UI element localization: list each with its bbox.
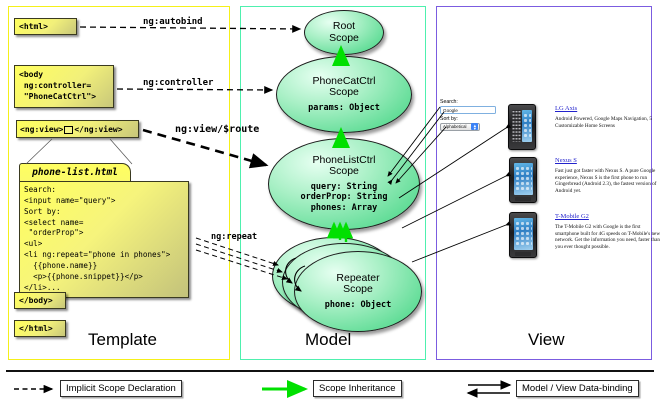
note-title: phone-list.html [20, 164, 130, 181]
scope-phonelistctrl-title-line2: Scope [312, 166, 375, 178]
phone-app-grid [515, 221, 532, 247]
diagram-canvas: <html> <body ng:controller= "PhoneCatCtr… [0, 0, 660, 405]
phone-snippet-3: The T-Mobile G2 with Google is the first… [555, 224, 660, 250]
scope-phonelistctrl-title: PhoneListCtrl Scope [312, 155, 375, 178]
scope-phonecatctrl-title-line2: Scope [312, 87, 375, 99]
phone-image-nexus-s [509, 157, 537, 203]
keyboard-icon [512, 110, 521, 142]
html-close-tag-box: </html> [14, 320, 66, 337]
scope-root-title-line1: Root [329, 21, 359, 33]
view-search-form: Search: Google Sort by: Alphabetical ▲▼ [440, 99, 498, 131]
label-ng-controller: ng:controller [143, 78, 213, 88]
ngview-open-text: <ng:view> [20, 125, 63, 134]
panel-label-model: Model [305, 330, 351, 350]
note-code: Search: <input name="query"> Sort by: <s… [19, 181, 189, 298]
body-open-tag-text: <body ng:controller= "PhoneCatCtrl"> [19, 70, 96, 101]
body-open-tag-box: <body ng:controller= "PhoneCatCtrl"> [14, 65, 114, 108]
view-search-input[interactable]: Google [440, 106, 496, 114]
phone-snippet-1: Android Powered, Google Maps Navigation,… [555, 116, 660, 129]
phone-image-tmobile-g2 [509, 212, 537, 258]
html-open-tag-box: <html> [14, 18, 77, 35]
phone-link-3[interactable]: T-Mobile G2 [555, 213, 589, 220]
label-ng-repeat: ng:repeat [211, 232, 257, 242]
panel-label-template: Template [88, 330, 157, 350]
ngview-placeholder-icon [64, 126, 73, 134]
body-close-tag-box: </body> [14, 292, 66, 309]
phone-snippet-2: Fast just got faster with Nexus S. A pur… [555, 168, 660, 194]
phone-bottom-bar [515, 252, 531, 256]
scope-repeater-title: Repeater Scope [336, 273, 379, 296]
scope-phonecatctrl-title: PhoneCatCtrl Scope [312, 76, 375, 99]
scope-phonelistctrl-props: query: String orderProp: String phones: … [301, 182, 388, 214]
phone-app-grid [515, 166, 532, 192]
scope-phonelistctrl: PhoneListCtrl Scope query: String orderP… [268, 138, 420, 230]
panel-label-view: View [528, 330, 565, 350]
scope-repeater-stack: Repeater Scope phone: Object [272, 235, 422, 332]
scope-phonecatctrl: PhoneCatCtrl Scope params: Object [276, 56, 412, 133]
note-tab: phone-list.html [19, 163, 131, 182]
legend-label-databinding: Model / View Data-binding [516, 380, 639, 397]
view-search-label: Search: [440, 99, 498, 105]
phone-image-lg-axis [508, 104, 536, 150]
scope-repeater-props: phone: Object [325, 300, 392, 311]
scope-root-title-line2: Scope [329, 33, 359, 45]
phone-bottom-bar [515, 197, 531, 201]
html-open-tag-text: <html> [19, 22, 48, 31]
view-sort-value: Alphabetical [441, 124, 471, 129]
scope-repeater: Repeater Scope phone: Object [294, 251, 422, 332]
ngview-tag-box: <ng:view></ng:view> [16, 120, 139, 138]
legend-label-inheritance: Scope Inheritance [313, 380, 402, 397]
scope-root-title: Root Scope [329, 21, 359, 44]
legend-divider [6, 370, 654, 372]
label-ng-view-route: ng:view/$route [175, 124, 259, 135]
phone-link-2[interactable]: Nexus S [555, 157, 577, 164]
phone-list-html-note: phone-list.html Search: <input name="que… [19, 163, 189, 298]
scope-phonecatctrl-props: params: Object [308, 103, 380, 114]
view-sort-select[interactable]: Alphabetical ▲▼ [440, 123, 480, 131]
legend-label-implicit: Implicit Scope Declaration [60, 380, 182, 397]
phone-app-grid [523, 113, 531, 139]
html-close-tag-text: </html> [19, 324, 53, 333]
ngview-close-text: </ng:view> [74, 125, 122, 134]
chevron-updown-icon: ▲▼ [471, 123, 478, 129]
label-ng-autobind: ng:autobind [143, 17, 203, 27]
body-close-tag-text: </body> [19, 296, 53, 305]
scope-root: Root Scope [304, 10, 384, 55]
phone-link-1[interactable]: LG Axis [555, 105, 577, 112]
view-sort-label: Sort by: [440, 116, 498, 122]
scope-repeater-title-line2: Scope [336, 284, 379, 296]
